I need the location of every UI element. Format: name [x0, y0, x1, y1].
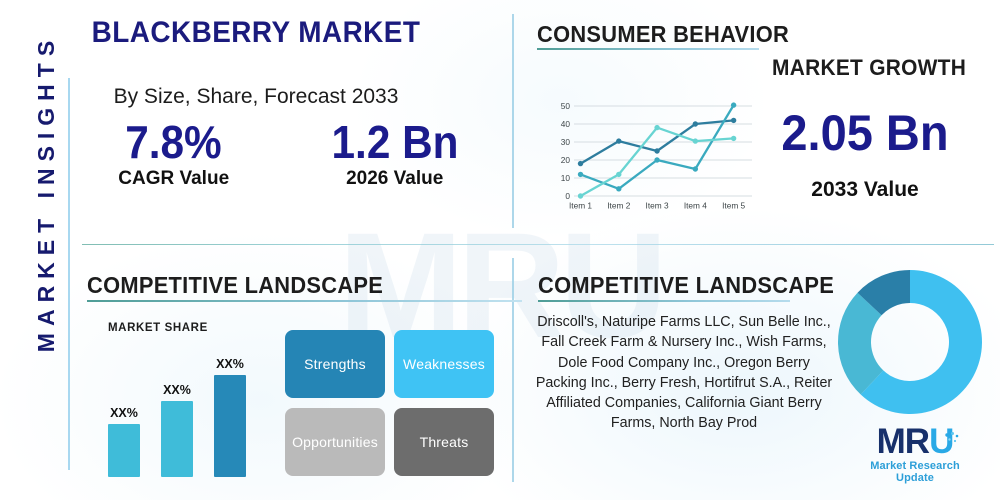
competitive-landscape-right-underline [538, 300, 790, 302]
y-tick-label: 50 [561, 101, 571, 111]
swot-box-strengths[interactable]: Strengths [285, 330, 385, 398]
stat-cagr: 7.8% CAGR Value [118, 118, 229, 190]
data-point [616, 186, 621, 191]
stat-2026-value: 1.2 Bn [331, 118, 458, 166]
swot-box-opportunities[interactable]: Opportunities [285, 408, 385, 476]
data-point [731, 102, 736, 107]
stat-cagr-value: 7.8% [123, 118, 225, 166]
y-tick-label: 10 [561, 173, 571, 183]
x-tick-label: Item 5 [722, 201, 745, 211]
swot-box-label: Weaknesses [403, 356, 485, 372]
bar-chart-bars: XX%XX%XX% [108, 345, 258, 477]
bar [214, 375, 246, 477]
data-point [693, 166, 698, 171]
y-tick-label: 20 [561, 155, 571, 165]
swot-box-threats[interactable]: Threats [394, 408, 494, 476]
bar-column: XX% [108, 406, 140, 477]
page-title: BLACKBERRY MARKET [18, 16, 494, 50]
bar [161, 401, 193, 477]
bar-value-label: XX% [216, 357, 244, 371]
market-share-bar-chart: MARKET SHARE XX%XX%XX% [100, 322, 265, 477]
market-split-donut-chart [836, 268, 984, 416]
x-tick-label: Item 4 [684, 201, 707, 211]
bar-column: XX% [161, 383, 193, 477]
stat-2026-label: 2026 Value [326, 168, 464, 190]
page-subtitle: By Size, Share, Forecast 2033 [0, 85, 512, 109]
data-point [578, 172, 583, 177]
data-point [578, 161, 583, 166]
headline-stats: 7.8% CAGR Value 1.2 Bn 2026 Value [70, 118, 512, 190]
data-point [693, 138, 698, 143]
data-point [654, 157, 659, 162]
data-point [654, 148, 659, 153]
line-chart-svg: 01020304050Item 1Item 2Item 3Item 4Item … [548, 100, 758, 218]
competitive-landscape-right-heading: COMPETITIVE LANDSCAPE [538, 272, 834, 299]
market-share-caption: MARKET SHARE [108, 322, 208, 334]
data-point [654, 125, 659, 130]
swot-box-label: Threats [420, 434, 469, 450]
company-list: Driscoll's, Naturipe Farms LLC, Sun Bell… [534, 312, 834, 434]
bar [108, 424, 140, 477]
data-point [578, 193, 583, 198]
x-tick-label: Item 1 [569, 201, 592, 211]
market-growth-value: 2.05 Bn [752, 108, 978, 158]
logo-dots-icon [943, 418, 961, 453]
infographic-canvas: MRU MARKET INSIGHTS BLACKBERRY MARKET By… [0, 0, 1000, 500]
data-point [731, 136, 736, 141]
line-series-2 [581, 105, 734, 189]
logo-wordmark: MRU [877, 424, 954, 459]
data-point [616, 138, 621, 143]
donut-chart-svg [836, 268, 984, 416]
swot-grid: StrengthsWeaknessesOpportunitiesThreats [285, 330, 494, 476]
horizontal-divider [82, 244, 994, 245]
logo-mark-dark: MR [877, 422, 929, 461]
data-point [731, 118, 736, 123]
y-tick-label: 30 [561, 137, 571, 147]
swot-box-label: Strengths [304, 356, 366, 372]
x-tick-label: Item 3 [646, 201, 669, 211]
bar-value-label: XX% [110, 406, 138, 420]
stat-cagr-label: CAGR Value [118, 168, 229, 190]
swot-box-weaknesses[interactable]: Weaknesses [394, 330, 494, 398]
vertical-divider-top [512, 14, 514, 228]
competitive-landscape-left-heading: COMPETITIVE LANDSCAPE [87, 272, 383, 299]
market-growth-heading: MARKET GROWTH [772, 55, 966, 81]
side-rail-label: MARKET INSIGHTS [33, 34, 60, 352]
side-rail: MARKET INSIGHTS [26, 0, 66, 393]
data-point [693, 121, 698, 126]
bar-column: XX% [214, 357, 246, 477]
market-growth-label: 2033 Value [745, 178, 985, 202]
bar-value-label: XX% [163, 383, 191, 397]
stat-2026: 1.2 Bn 2026 Value [326, 118, 464, 190]
x-tick-label: Item 2 [607, 201, 630, 211]
consumer-behavior-underline [537, 48, 759, 50]
logo-tagline: Market Research Update [852, 460, 978, 484]
competitive-landscape-left-underline [87, 300, 522, 302]
y-tick-label: 40 [561, 119, 571, 129]
swot-box-label: Opportunities [292, 434, 378, 450]
consumer-behavior-heading: CONSUMER BEHAVIOR [537, 21, 789, 48]
consumer-behavior-line-chart: 01020304050Item 1Item 2Item 3Item 4Item … [548, 100, 758, 218]
brand-logo: MRU Market Research Update [852, 424, 978, 484]
vertical-divider-bottom [512, 258, 514, 482]
data-point [616, 172, 621, 177]
